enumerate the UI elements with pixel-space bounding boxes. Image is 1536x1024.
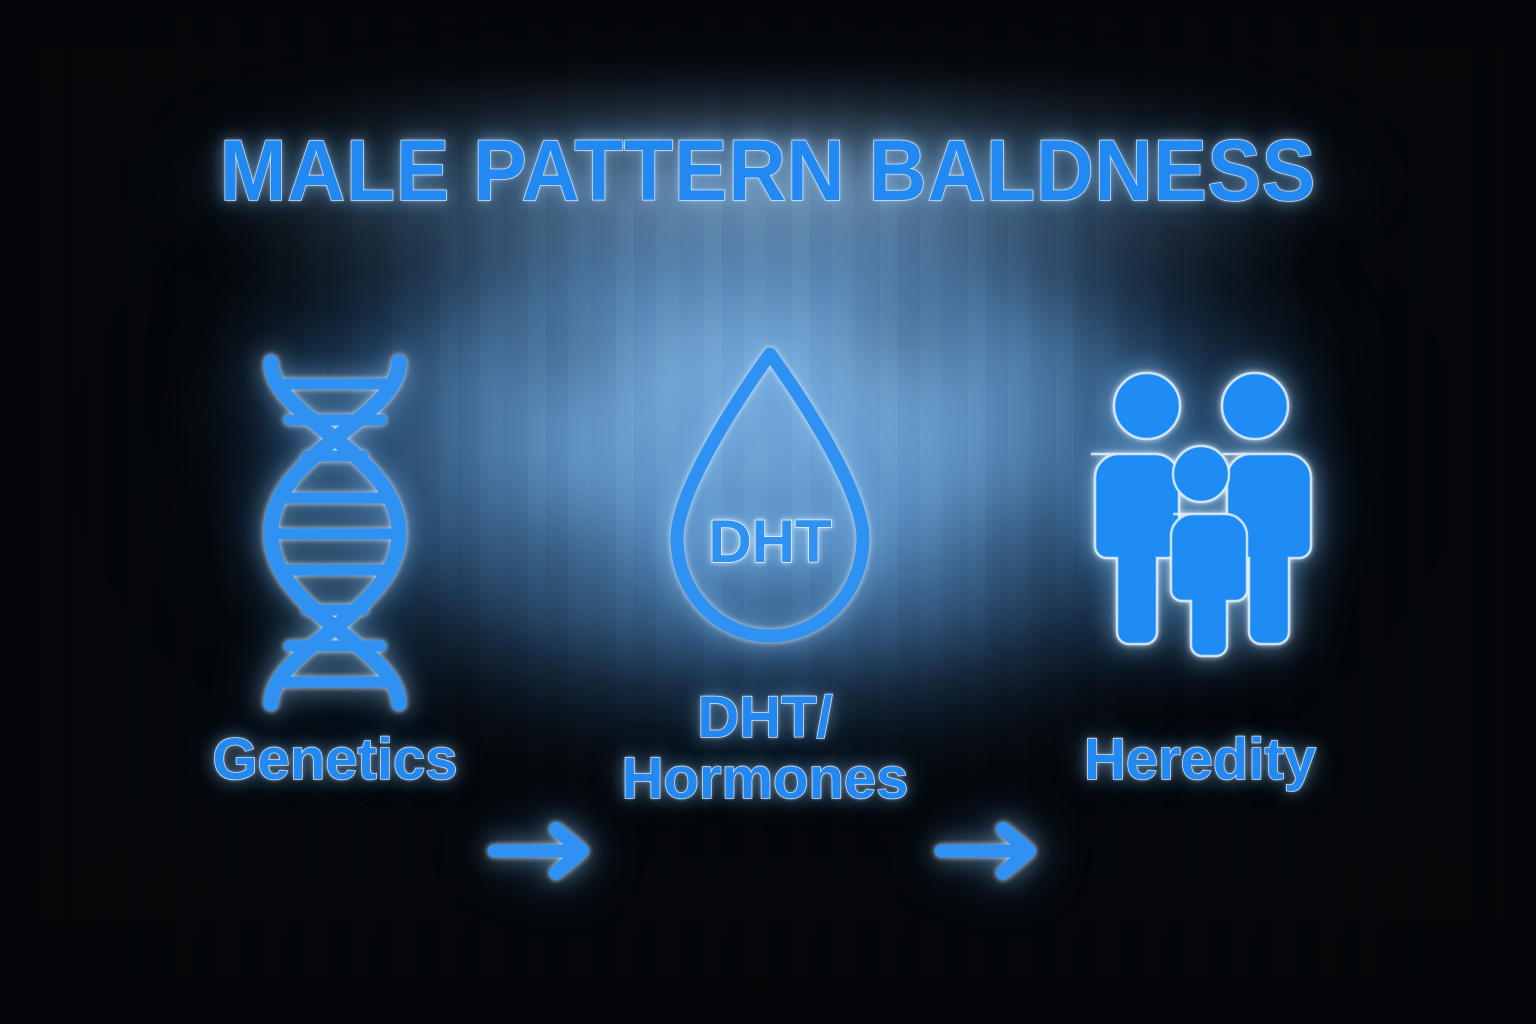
flow-label-dht: DHT/ Hormones (565, 688, 965, 810)
flow-label-genetics: Genetics (155, 730, 515, 791)
flow-label-dht-line1: DHT/ (697, 685, 832, 750)
water-droplet-glyph: DHT (655, 340, 885, 660)
infographic-canvas: MALE PATTERN BALDNESS (0, 0, 1536, 1024)
dna-helix-icon (245, 348, 425, 723)
droplet-label: DHT (708, 508, 831, 575)
flow-step-genetics (165, 340, 505, 720)
flow-label-heredity: Heredity (1025, 730, 1375, 791)
flow-step-dht: DHT (575, 340, 965, 720)
family-group-glyph (1085, 368, 1315, 668)
water-droplet-icon: DHT (655, 340, 885, 665)
family-group-icon (1085, 368, 1315, 673)
flow-step-heredity (1030, 340, 1370, 720)
dna-helix-glyph (245, 348, 425, 718)
flow-label-dht-line2: Hormones (565, 749, 965, 810)
flow-diagram: DHT (0, 340, 1536, 720)
arrow-right-glyph (486, 818, 594, 884)
arrow-right-glyph (933, 818, 1041, 884)
arrow-right-icon (486, 818, 594, 889)
page-title: MALE PATTERN BALDNESS (54, 128, 1482, 214)
arrow-right-icon (933, 818, 1041, 889)
